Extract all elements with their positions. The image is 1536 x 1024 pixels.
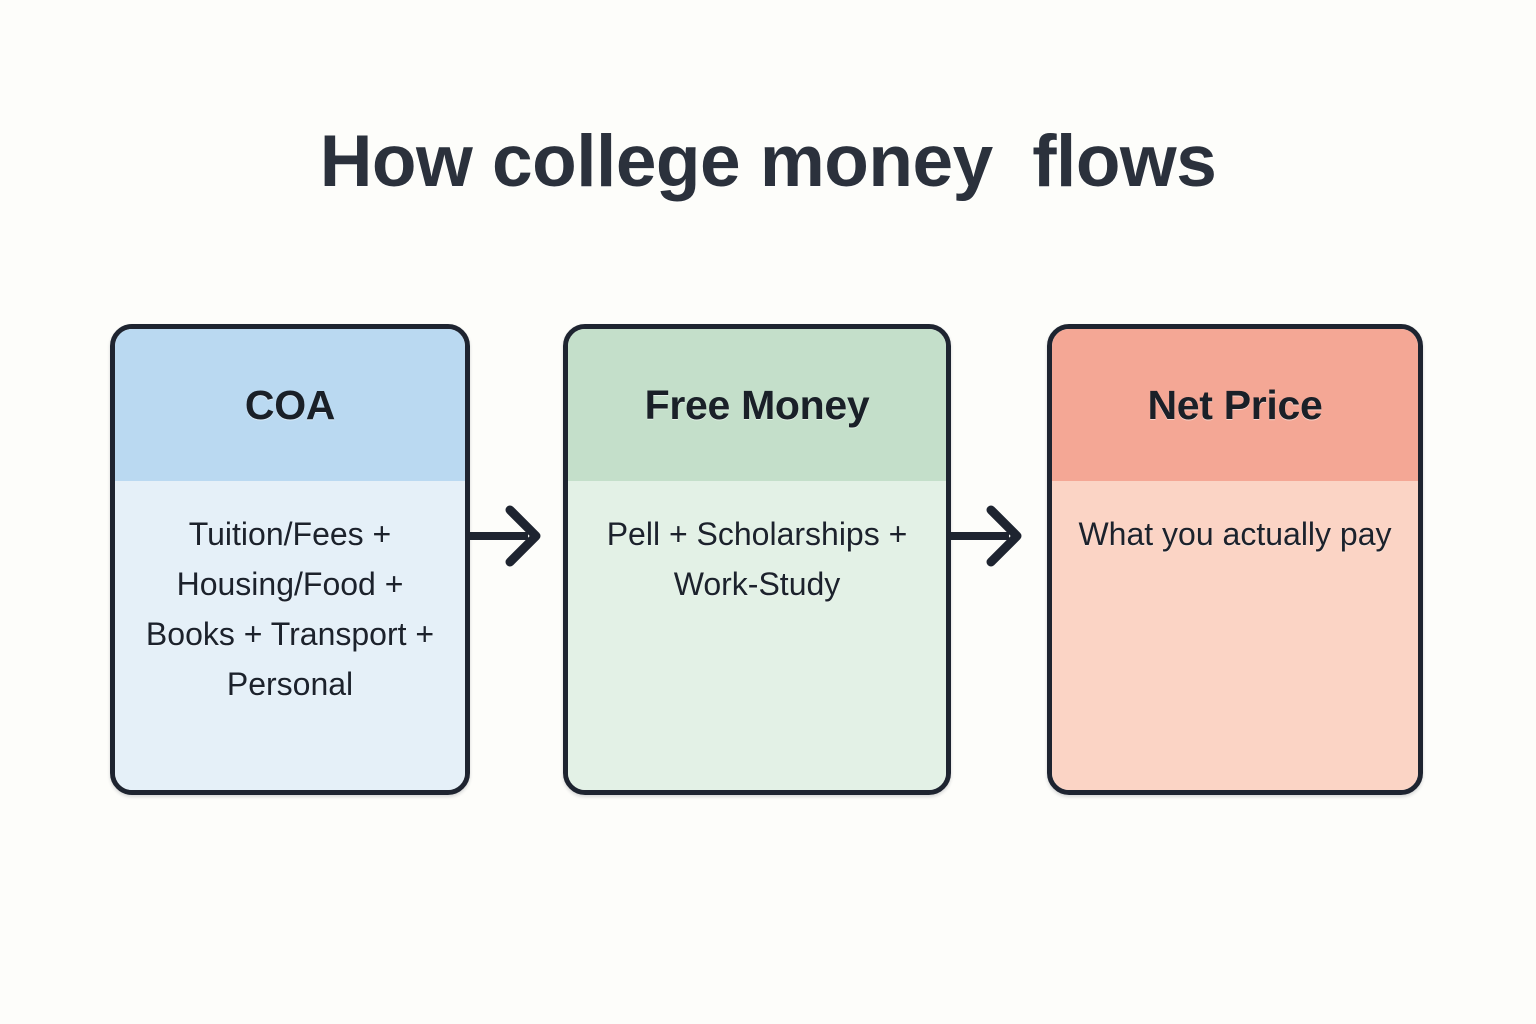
flow-box-net-price-body: What you actually pay [1052,481,1418,790]
flow-box-free-money-body: Pell + Scholarships + Work-Study [568,481,946,790]
flow-box-coa: COA Tuition/Fees + Housing/Food + Books … [110,324,470,795]
arrow-right-icon-1 [466,498,550,574]
page-title: How college money flows [0,120,1536,203]
arrow-right-icon-2 [947,498,1031,574]
flow-box-net-price: Net Price What you actually pay [1047,324,1423,795]
flow-box-coa-body: Tuition/Fees + Housing/Food + Books + Tr… [115,481,465,790]
flow-box-free-money-header: Free Money [568,329,946,481]
flow-box-coa-header: COA [115,329,465,481]
diagram-canvas: How college money flows COA Tuition/Fees… [0,0,1536,1024]
flow-box-free-money: Free Money Pell + Scholarships + Work-St… [563,324,951,795]
flow-box-net-price-header: Net Price [1052,329,1418,481]
